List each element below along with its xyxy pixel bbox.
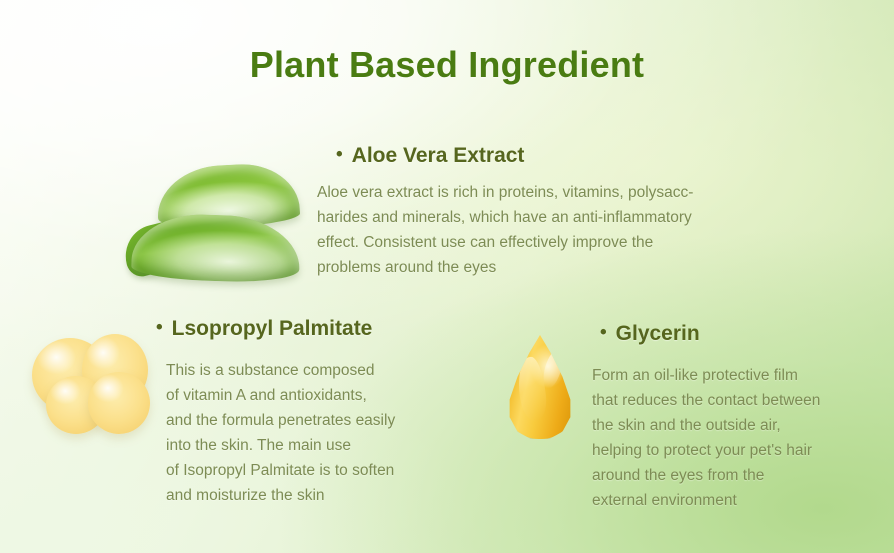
body-line: problems around the eyes bbox=[317, 255, 693, 280]
body-line: that reduces the contact between bbox=[592, 388, 820, 413]
body-line: This is a substance composed bbox=[166, 358, 395, 383]
body-line: external environment bbox=[592, 488, 820, 513]
golden-oil-droplet-image bbox=[503, 335, 577, 443]
section-heading-glycerin: •Glycerin bbox=[600, 322, 700, 346]
body-line: of Isopropyl Palmitate is to soften bbox=[166, 458, 395, 483]
oil-droplet bbox=[507, 335, 573, 439]
section-body-isopropyl: This is a substance composed of vitamin … bbox=[166, 358, 395, 508]
section-heading-label: Glycerin bbox=[616, 322, 700, 345]
droplet-sheen bbox=[540, 348, 566, 391]
body-line: Form an oil-like protective film bbox=[592, 363, 820, 388]
plant-based-ingredient-poster: Plant Based Ingredient •Aloe Vera Extrac… bbox=[0, 0, 894, 553]
section-heading-label: Aloe Vera Extract bbox=[352, 144, 525, 167]
body-line: effect. Consistent use can effectively i… bbox=[317, 230, 693, 255]
body-line: Aloe vera extract is rich in proteins, v… bbox=[317, 180, 693, 205]
body-line: and the formula penetrates easily bbox=[166, 408, 395, 433]
body-line: and moisturize the skin bbox=[166, 483, 395, 508]
bullet-icon: • bbox=[156, 318, 163, 337]
section-body-glycerin: Form an oil-like protective film that re… bbox=[592, 363, 820, 513]
section-heading-label: Lsopropyl Palmitate bbox=[172, 317, 373, 340]
body-line: around the eyes from the bbox=[592, 463, 820, 488]
body-line: of vitamin A and antioxidants, bbox=[166, 383, 395, 408]
bullet-icon: • bbox=[336, 145, 343, 164]
section-heading-aloe: •Aloe Vera Extract bbox=[336, 144, 524, 168]
body-line: the skin and the outside air, bbox=[592, 413, 820, 438]
yellow-oil-blobs-image bbox=[30, 334, 156, 438]
page-title: Plant Based Ingredient bbox=[0, 44, 894, 86]
body-line: into the skin. The main use bbox=[166, 433, 395, 458]
droplet-inner-highlight bbox=[515, 356, 549, 423]
body-line: harides and minerals, which have an anti… bbox=[317, 205, 693, 230]
section-heading-isopropyl: •Lsopropyl Palmitate bbox=[156, 317, 372, 341]
body-line: helping to protect your pet's hair bbox=[592, 438, 820, 463]
section-body-aloe: Aloe vera extract is rich in proteins, v… bbox=[317, 180, 693, 280]
aloe-vera-leaves-image bbox=[124, 163, 308, 289]
oil-blob bbox=[88, 372, 150, 434]
bullet-icon: • bbox=[600, 323, 607, 342]
